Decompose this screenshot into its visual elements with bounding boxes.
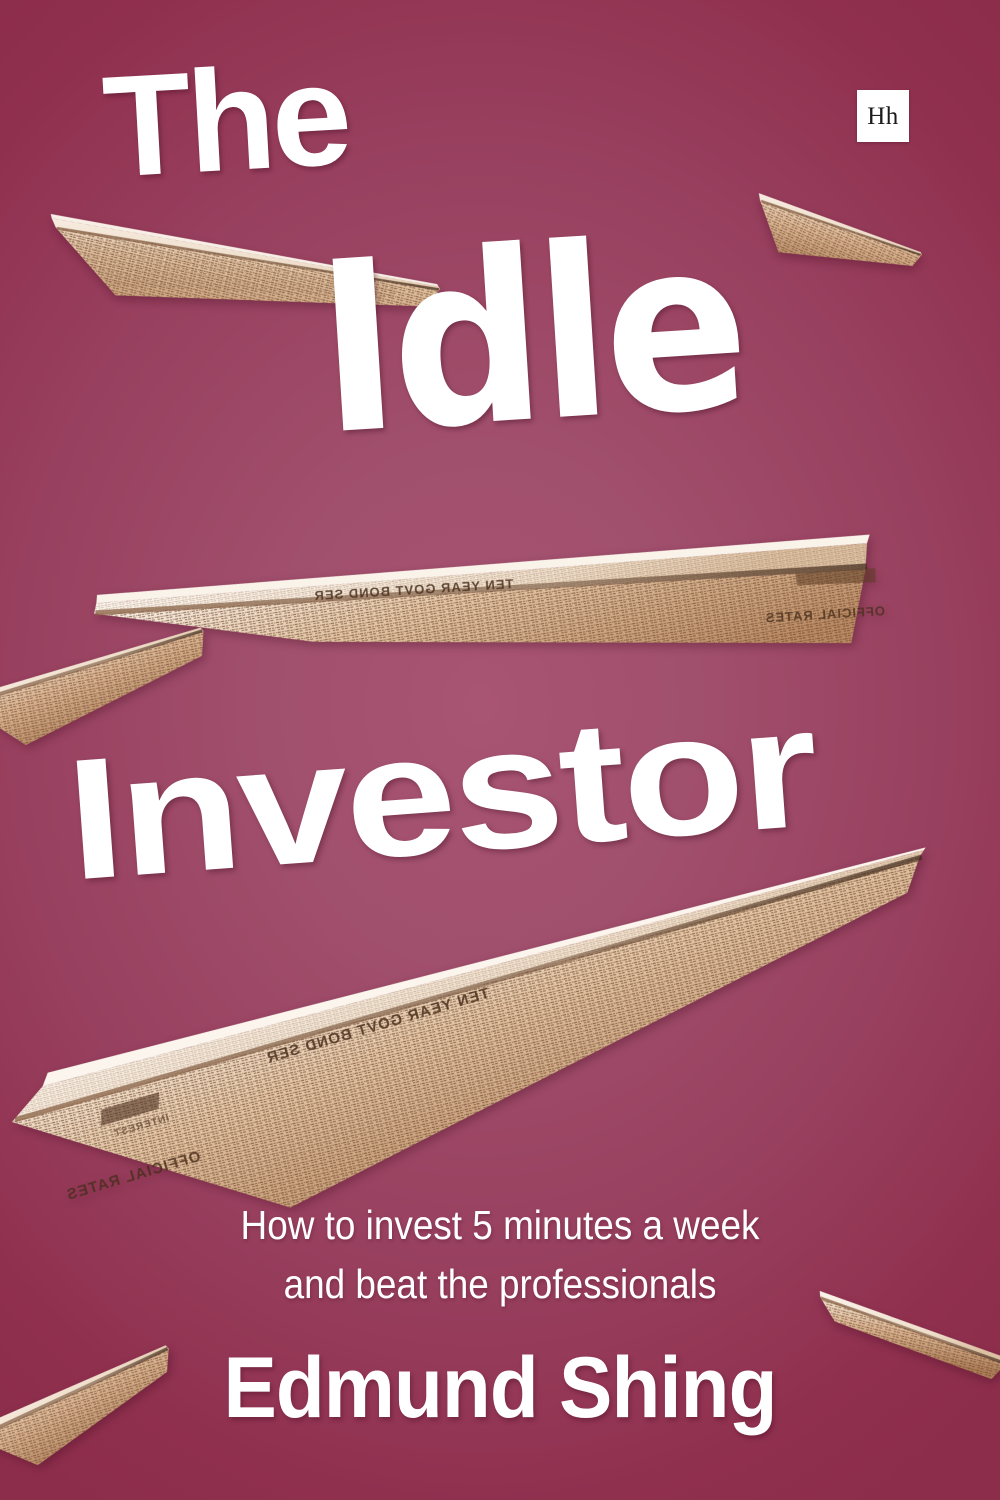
svg-text:INTEREST: INTEREST bbox=[112, 1113, 170, 1140]
title-word-investor: Investor bbox=[62, 687, 820, 900]
book-cover: TEN YEAR GOVT BOND SER OFFICIAL RATES bbox=[0, 0, 1000, 1500]
svg-text:OFFICIAL RATES: OFFICIAL RATES bbox=[764, 603, 885, 625]
subtitle: How to invest 5 minutes a week and beat … bbox=[50, 1196, 950, 1315]
title-word-idle: Idle bbox=[312, 215, 748, 458]
subtitle-line-2: and beat the professionals bbox=[50, 1255, 950, 1314]
publisher-logo: Hh bbox=[857, 90, 909, 142]
subtitle-line-1: How to invest 5 minutes a week bbox=[50, 1196, 950, 1255]
author-name: Edmund Shing bbox=[35, 1345, 965, 1431]
plane-top-right-small bbox=[730, 181, 932, 328]
svg-text:TEN YEAR GOVT BOND SER: TEN YEAR GOVT BOND SER bbox=[264, 985, 491, 1067]
svg-text:TEN YEAR GOVT BOND SER: TEN YEAR GOVT BOND SER bbox=[313, 576, 514, 603]
title-word-the: The bbox=[100, 48, 351, 194]
publisher-logo-text: Hh bbox=[867, 104, 899, 129]
